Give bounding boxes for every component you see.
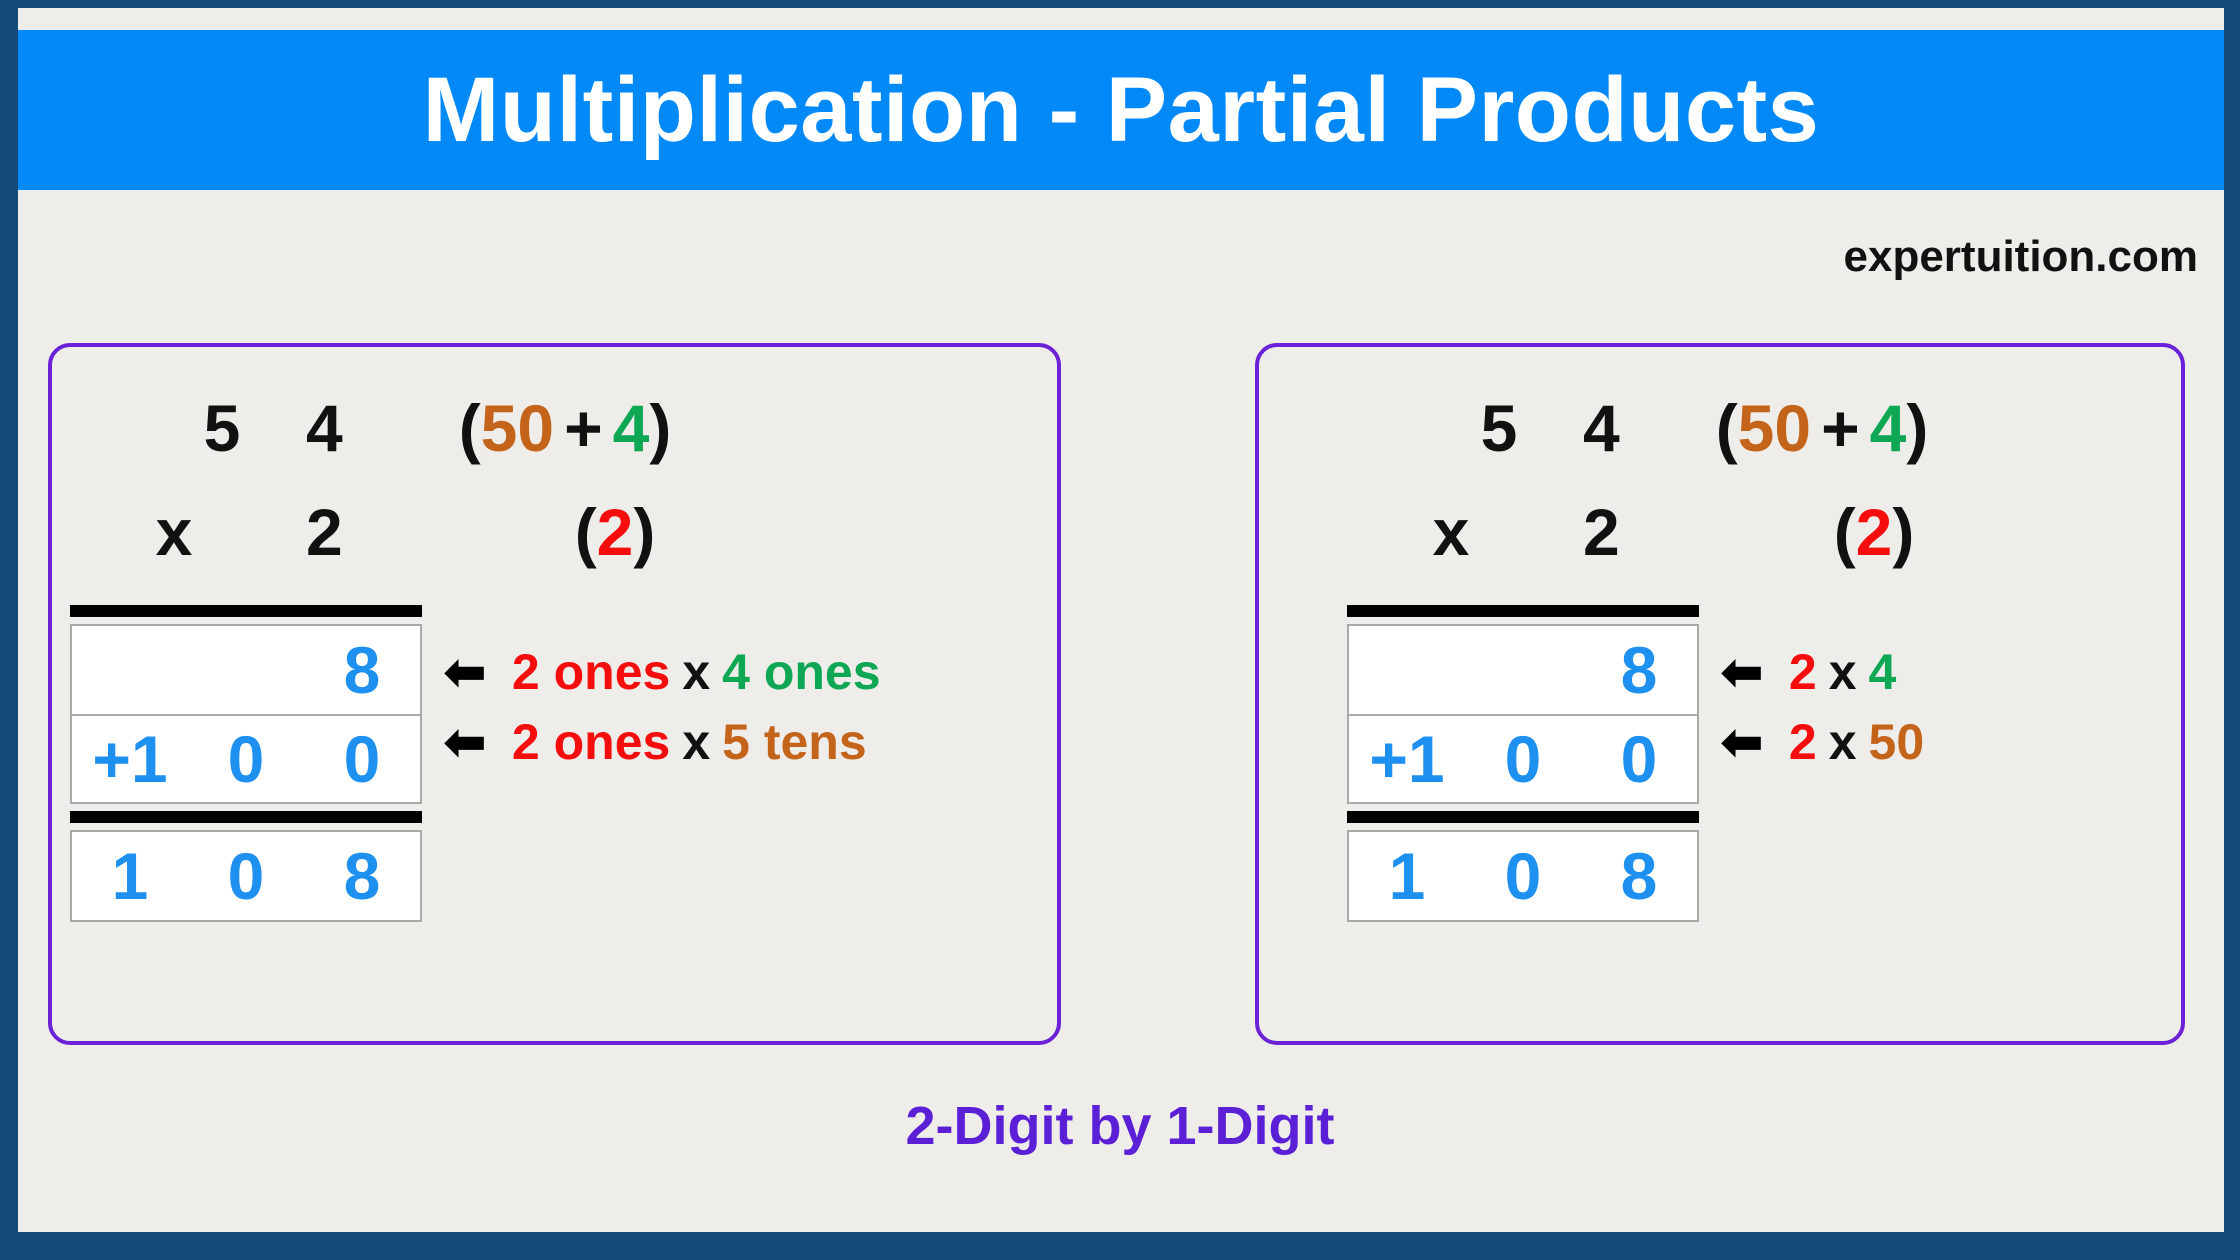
annot-part: 4 ones	[722, 644, 880, 700]
paren-open: (	[1834, 495, 1856, 569]
total-box: 1 0 8	[70, 830, 422, 922]
expansion-group: (50+4)	[459, 395, 672, 461]
expansion-ones: 4	[613, 391, 650, 465]
expansion-group: (50+4)	[1716, 395, 1929, 461]
digit-tens: 5	[1457, 395, 1541, 461]
total-cell: 0	[188, 843, 304, 909]
title-banner: Multiplication - Partial Products	[18, 30, 2224, 190]
partial-product-row: 8	[1349, 626, 1697, 714]
page-title: Multiplication - Partial Products	[423, 64, 1820, 156]
paren-close: )	[1892, 495, 1914, 569]
annot-part: 50	[1869, 714, 1925, 770]
partial-cell: 0	[188, 726, 304, 792]
annot-operator: x	[1829, 714, 1857, 770]
plus-sign: +	[1821, 391, 1860, 465]
total-cell: 8	[1581, 843, 1697, 909]
rule-above-total	[1347, 811, 1699, 823]
annotation-text: 2 onesx5 tens	[512, 717, 867, 767]
partial-cell: +1	[1349, 726, 1465, 792]
multiplier-group: (2)	[1834, 499, 1915, 565]
expansion-tens: 50	[1738, 391, 1811, 465]
times-sign: x	[132, 499, 216, 565]
paren-open: (	[1716, 391, 1738, 465]
arrow-left-icon: ⬅	[1721, 717, 1763, 767]
partial-products-box: 8 +1 0 0	[1347, 624, 1699, 804]
paren-open: (	[459, 391, 481, 465]
paren-open: (	[575, 495, 597, 569]
annotation-text: 2x4	[1789, 647, 1896, 697]
calculation-stack: 8 +1 0 0 1 0 8	[1347, 605, 1699, 922]
annotation-tens-product: ⬅ 2x50	[1721, 717, 1924, 767]
partial-cell: 0	[1465, 726, 1581, 792]
partial-product-row: +1 0 0	[72, 714, 420, 802]
digit-multiplier: 2	[282, 499, 366, 565]
multiplier-value: 2	[1856, 495, 1893, 569]
rule-above-partials	[70, 605, 422, 617]
rule-above-partials	[1347, 605, 1699, 617]
total-cell: 1	[72, 843, 188, 909]
annot-part: 2	[1789, 714, 1817, 770]
panel-expanded-words: 5 4 (50+4) x 2 (2) 8	[48, 343, 1061, 1045]
digit-multiplier: 2	[1559, 499, 1643, 565]
total-cell: 8	[304, 843, 420, 909]
arrow-left-icon: ⬅	[1721, 647, 1763, 697]
expansion-tens: 50	[481, 391, 554, 465]
annotation-text: 2 onesx4 ones	[512, 647, 881, 697]
annot-part: 4	[1869, 644, 1897, 700]
annot-part: 5 tens	[722, 714, 867, 770]
site-watermark: expertuition.com	[1844, 232, 2199, 282]
annot-operator: x	[682, 644, 710, 700]
problem-row-multiplicand: 5 4 (50+4)	[1457, 395, 1928, 461]
paren-close: )	[1906, 391, 1928, 465]
total-row: 1 0 8	[1349, 832, 1697, 920]
digit-ones: 4	[1559, 395, 1643, 461]
paren-close: )	[649, 391, 671, 465]
times-sign: x	[1409, 499, 1493, 565]
annot-operator: x	[1829, 644, 1857, 700]
partial-product-row: 8	[72, 626, 420, 714]
calculation-stack: 8 +1 0 0 1 0 8	[70, 605, 422, 922]
total-cell: 0	[1465, 843, 1581, 909]
problem-row-multiplier: x 2 (2)	[1409, 499, 1914, 565]
annotation-ones-product: ⬅ 2 onesx4 ones	[444, 647, 881, 697]
multiplier-value: 2	[597, 495, 634, 569]
annotation-ones-product: ⬅ 2x4	[1721, 647, 1896, 697]
digit-ones: 4	[282, 395, 366, 461]
partial-cell: 0	[1581, 726, 1697, 792]
panel-expanded-numbers: 5 4 (50+4) x 2 (2) 8 +1	[1255, 343, 2185, 1045]
digit-tens: 5	[180, 395, 264, 461]
arrow-left-icon: ⬅	[444, 717, 486, 767]
rule-above-total	[70, 811, 422, 823]
problem-row-multiplicand: 5 4 (50+4)	[180, 395, 671, 461]
multiplier-group: (2)	[575, 499, 656, 565]
partial-cell: 0	[304, 726, 420, 792]
partial-cell: 8	[304, 637, 420, 703]
annotation-text: 2x50	[1789, 717, 1924, 767]
total-box: 1 0 8	[1347, 830, 1699, 922]
partial-products-box: 8 +1 0 0	[70, 624, 422, 804]
annot-part: 2 ones	[512, 714, 670, 770]
annotation-tens-product: ⬅ 2 onesx5 tens	[444, 717, 867, 767]
arrow-left-icon: ⬅	[444, 647, 486, 697]
problem-row-multiplier: x 2 (2)	[132, 499, 655, 565]
expansion-ones: 4	[1870, 391, 1907, 465]
annot-operator: x	[682, 714, 710, 770]
outer-frame: Multiplication - Partial Products expert…	[0, 0, 2240, 1260]
paren-close: )	[633, 495, 655, 569]
figure-caption: 2-Digit by 1-Digit	[0, 1095, 2240, 1157]
partial-product-row: +1 0 0	[1349, 714, 1697, 802]
annot-part: 2	[1789, 644, 1817, 700]
partial-cell: 8	[1581, 637, 1697, 703]
annot-part: 2 ones	[512, 644, 670, 700]
total-row: 1 0 8	[72, 832, 420, 920]
total-cell: 1	[1349, 843, 1465, 909]
partial-cell: +1	[72, 726, 188, 792]
plus-sign: +	[564, 391, 603, 465]
